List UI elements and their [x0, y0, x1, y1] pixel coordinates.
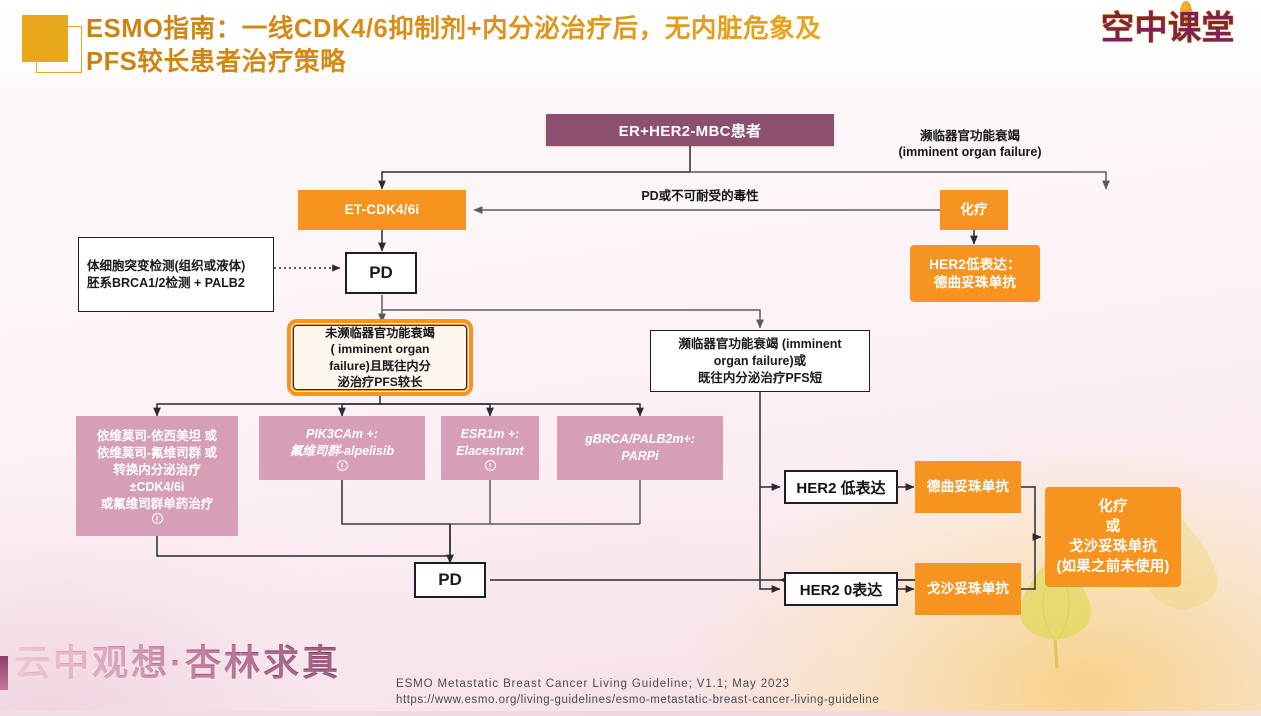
footer-reference-line1: ESMO Metastatic Breast Cancer Living Gui…: [396, 676, 879, 692]
flowchart-connectors: [0, 0, 1261, 716]
node-option-everolimus-switch-et[interactable]: 依维莫司-依西美坦 或 依维莫司-氟维司群 或 转换内分泌治疗 ±CDK4/6i…: [76, 416, 238, 536]
footer-reference-line2: https://www.esmo.org/living-guidelines/e…: [396, 692, 879, 708]
node-option-4-label: gBRCA/PALB2m+: PARPi: [585, 431, 695, 465]
node-option-1-label: 依维莫司-依西美坦 或 依维莫司-氟维司群 或 转换内分泌治疗 ±CDK4/6i…: [97, 428, 217, 513]
node-option-gbrca-palb2-parpi[interactable]: gBRCA/PALB2m+: PARPi: [557, 416, 723, 480]
footer-watermark: 云中观想·杏林求真: [14, 634, 341, 686]
node-er-her2-mbc-patients[interactable]: ER+HER2-MBC患者: [546, 114, 834, 146]
node-chemotherapy-upfront[interactable]: 化疗: [940, 190, 1008, 230]
node-option-esr1m-elacestrant[interactable]: ESR1m +: Elacestrant !: [441, 416, 539, 480]
node-her2-low-tdxd-upfront[interactable]: HER2低表达： 德曲妥珠单抗: [910, 245, 1040, 302]
node-option-2-label: PIK3CAm +: 氟维司群-alpelisib: [290, 426, 394, 460]
node-option-3-label: ESR1m +: Elacestrant: [456, 426, 523, 460]
warning-icon: !: [337, 460, 348, 471]
footer-divider: [0, 711, 1261, 716]
node-her2-low-expression[interactable]: HER2 低表达: [784, 470, 898, 504]
footer-reference: ESMO Metastatic Breast Cancer Living Gui…: [396, 676, 879, 708]
edge-label-pd-toxicity: PD或不可耐受的毒性: [570, 188, 830, 204]
node-mutation-testing-label: 体细胞突变检测(组织或液体) 胚系BRCA1/2检测 + PALB2: [87, 258, 245, 292]
edge-label-organ-failure: 濒临器官功能衰竭 (imminent organ failure): [870, 128, 1070, 160]
footer-accent-bar: [0, 656, 8, 690]
slide-canvas: ESMO指南：一线CDK4/6抑制剂+内分泌治疗后，无内脏危象及 PFS较长患者…: [0, 0, 1261, 716]
node-sacituzumab-govitecan[interactable]: 戈沙妥珠单抗: [915, 563, 1021, 615]
node-branch-organ-failure-short-pfs[interactable]: 濒临器官功能衰竭 (imminent organ failure)或 既往内分泌…: [650, 330, 870, 392]
node-final-chemo-or-sg[interactable]: 化疗 或 戈沙妥珠单抗 (如果之前未使用): [1045, 487, 1181, 587]
node-her2-zero-expression[interactable]: HER2 0表达: [784, 572, 898, 606]
node-pd-after-first-line[interactable]: PD: [345, 252, 417, 294]
node-tdxd[interactable]: 德曲妥珠单抗: [915, 461, 1021, 513]
node-option-pik3ca-alpelisib[interactable]: PIK3CAm +: 氟维司群-alpelisib !: [259, 416, 425, 480]
warning-icon: !: [485, 460, 496, 471]
node-pd-after-second-line[interactable]: PD: [414, 562, 486, 598]
node-et-cdk46i[interactable]: ET-CDK4/6i: [298, 190, 466, 230]
treatment-flowchart: 濒临器官功能衰竭 (imminent organ failure) PD或不可耐…: [0, 0, 1261, 716]
node-branch-no-organ-failure-long-pfs[interactable]: 未濒临器官功能衰竭 ( imminent organ failure)且既往内分…: [293, 325, 467, 390]
node-mutation-testing[interactable]: 体细胞突变检测(组织或液体) 胚系BRCA1/2检测 + PALB2: [78, 237, 274, 312]
warning-icon: !: [152, 513, 163, 524]
